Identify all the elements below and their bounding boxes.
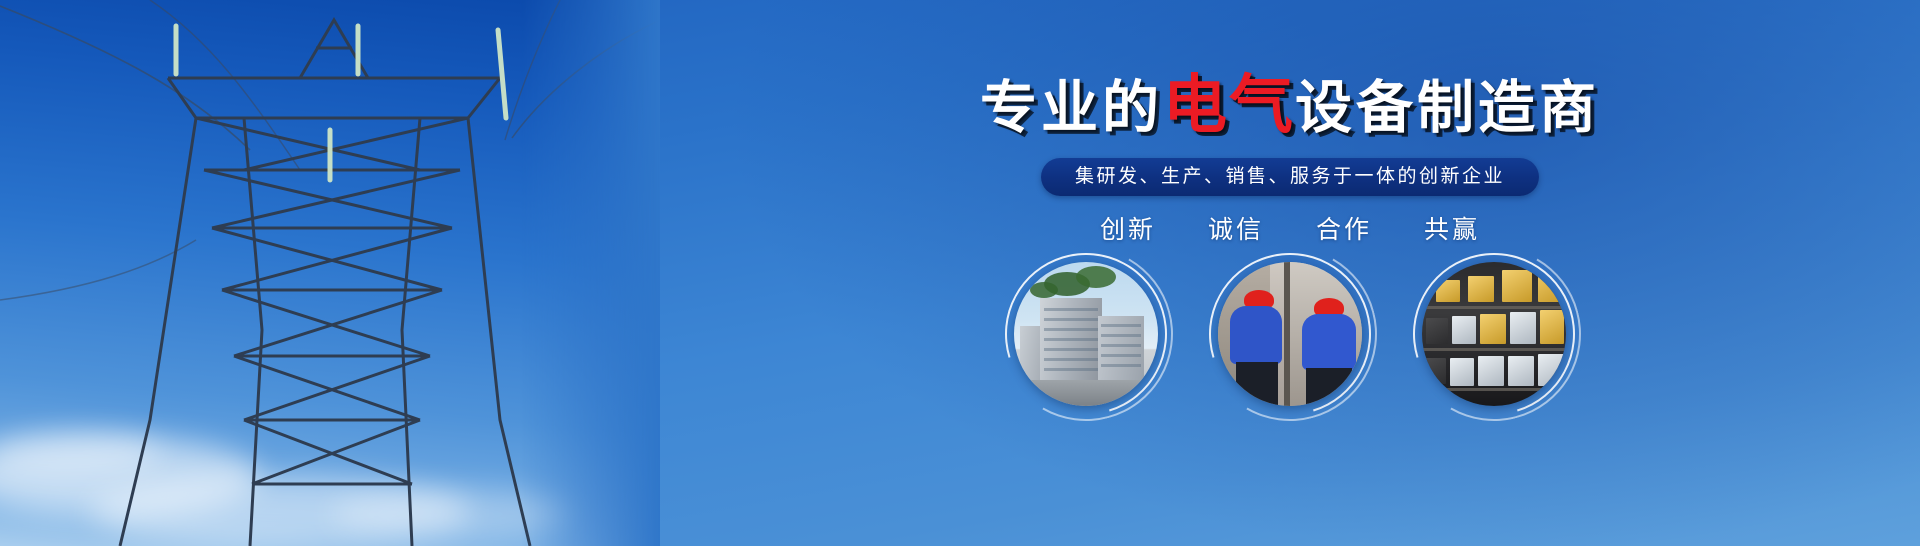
office-building-photo — [1014, 262, 1158, 406]
worker-shape — [1230, 306, 1282, 364]
subtitle-pill: 集研发、生产、销售、服务于一体的创新企业 — [1041, 158, 1539, 196]
page-title: 专业的电气设备制造商 — [660, 74, 1920, 139]
photo-mask — [1422, 262, 1566, 406]
road-shape — [1014, 380, 1158, 406]
building-shape — [1098, 316, 1144, 382]
worker-legs — [1236, 362, 1278, 406]
transmission-tower-photo — [0, 0, 660, 546]
worker-shape — [1302, 314, 1356, 370]
building-shape — [1040, 298, 1102, 382]
headline-highlight: 电气 — [1163, 69, 1295, 141]
headline-part1: 专业的 — [980, 76, 1163, 140]
keyword-item: 合作 — [1316, 210, 1372, 246]
pylon-illustration — [0, 0, 660, 546]
photo-circle-row — [660, 262, 1920, 406]
tree-shape — [1030, 282, 1058, 298]
tree-shape — [1076, 266, 1116, 288]
headline-part2: 设备制造商 — [1295, 76, 1600, 140]
cabinet-divider — [1284, 262, 1290, 406]
photo-mask — [1218, 262, 1362, 406]
certificates-photo — [1422, 262, 1566, 406]
keyword-item: 诚信 — [1208, 210, 1264, 246]
banner-content: 专业的电气设备制造商 集研发、生产、销售、服务于一体的创新企业 创新 诚信 合作… — [660, 0, 1920, 546]
photo-mask — [1014, 262, 1158, 406]
promo-banner: 专业的电气设备制造商 集研发、生产、销售、服务于一体的创新企业 创新 诚信 合作… — [0, 0, 1920, 546]
worker-legs — [1306, 368, 1352, 406]
keyword-row: 创新 诚信 合作 共赢 — [660, 210, 1920, 246]
keyword-item: 创新 — [1100, 210, 1156, 246]
keyword-item: 共赢 — [1424, 210, 1480, 246]
workers-photo — [1218, 262, 1362, 406]
